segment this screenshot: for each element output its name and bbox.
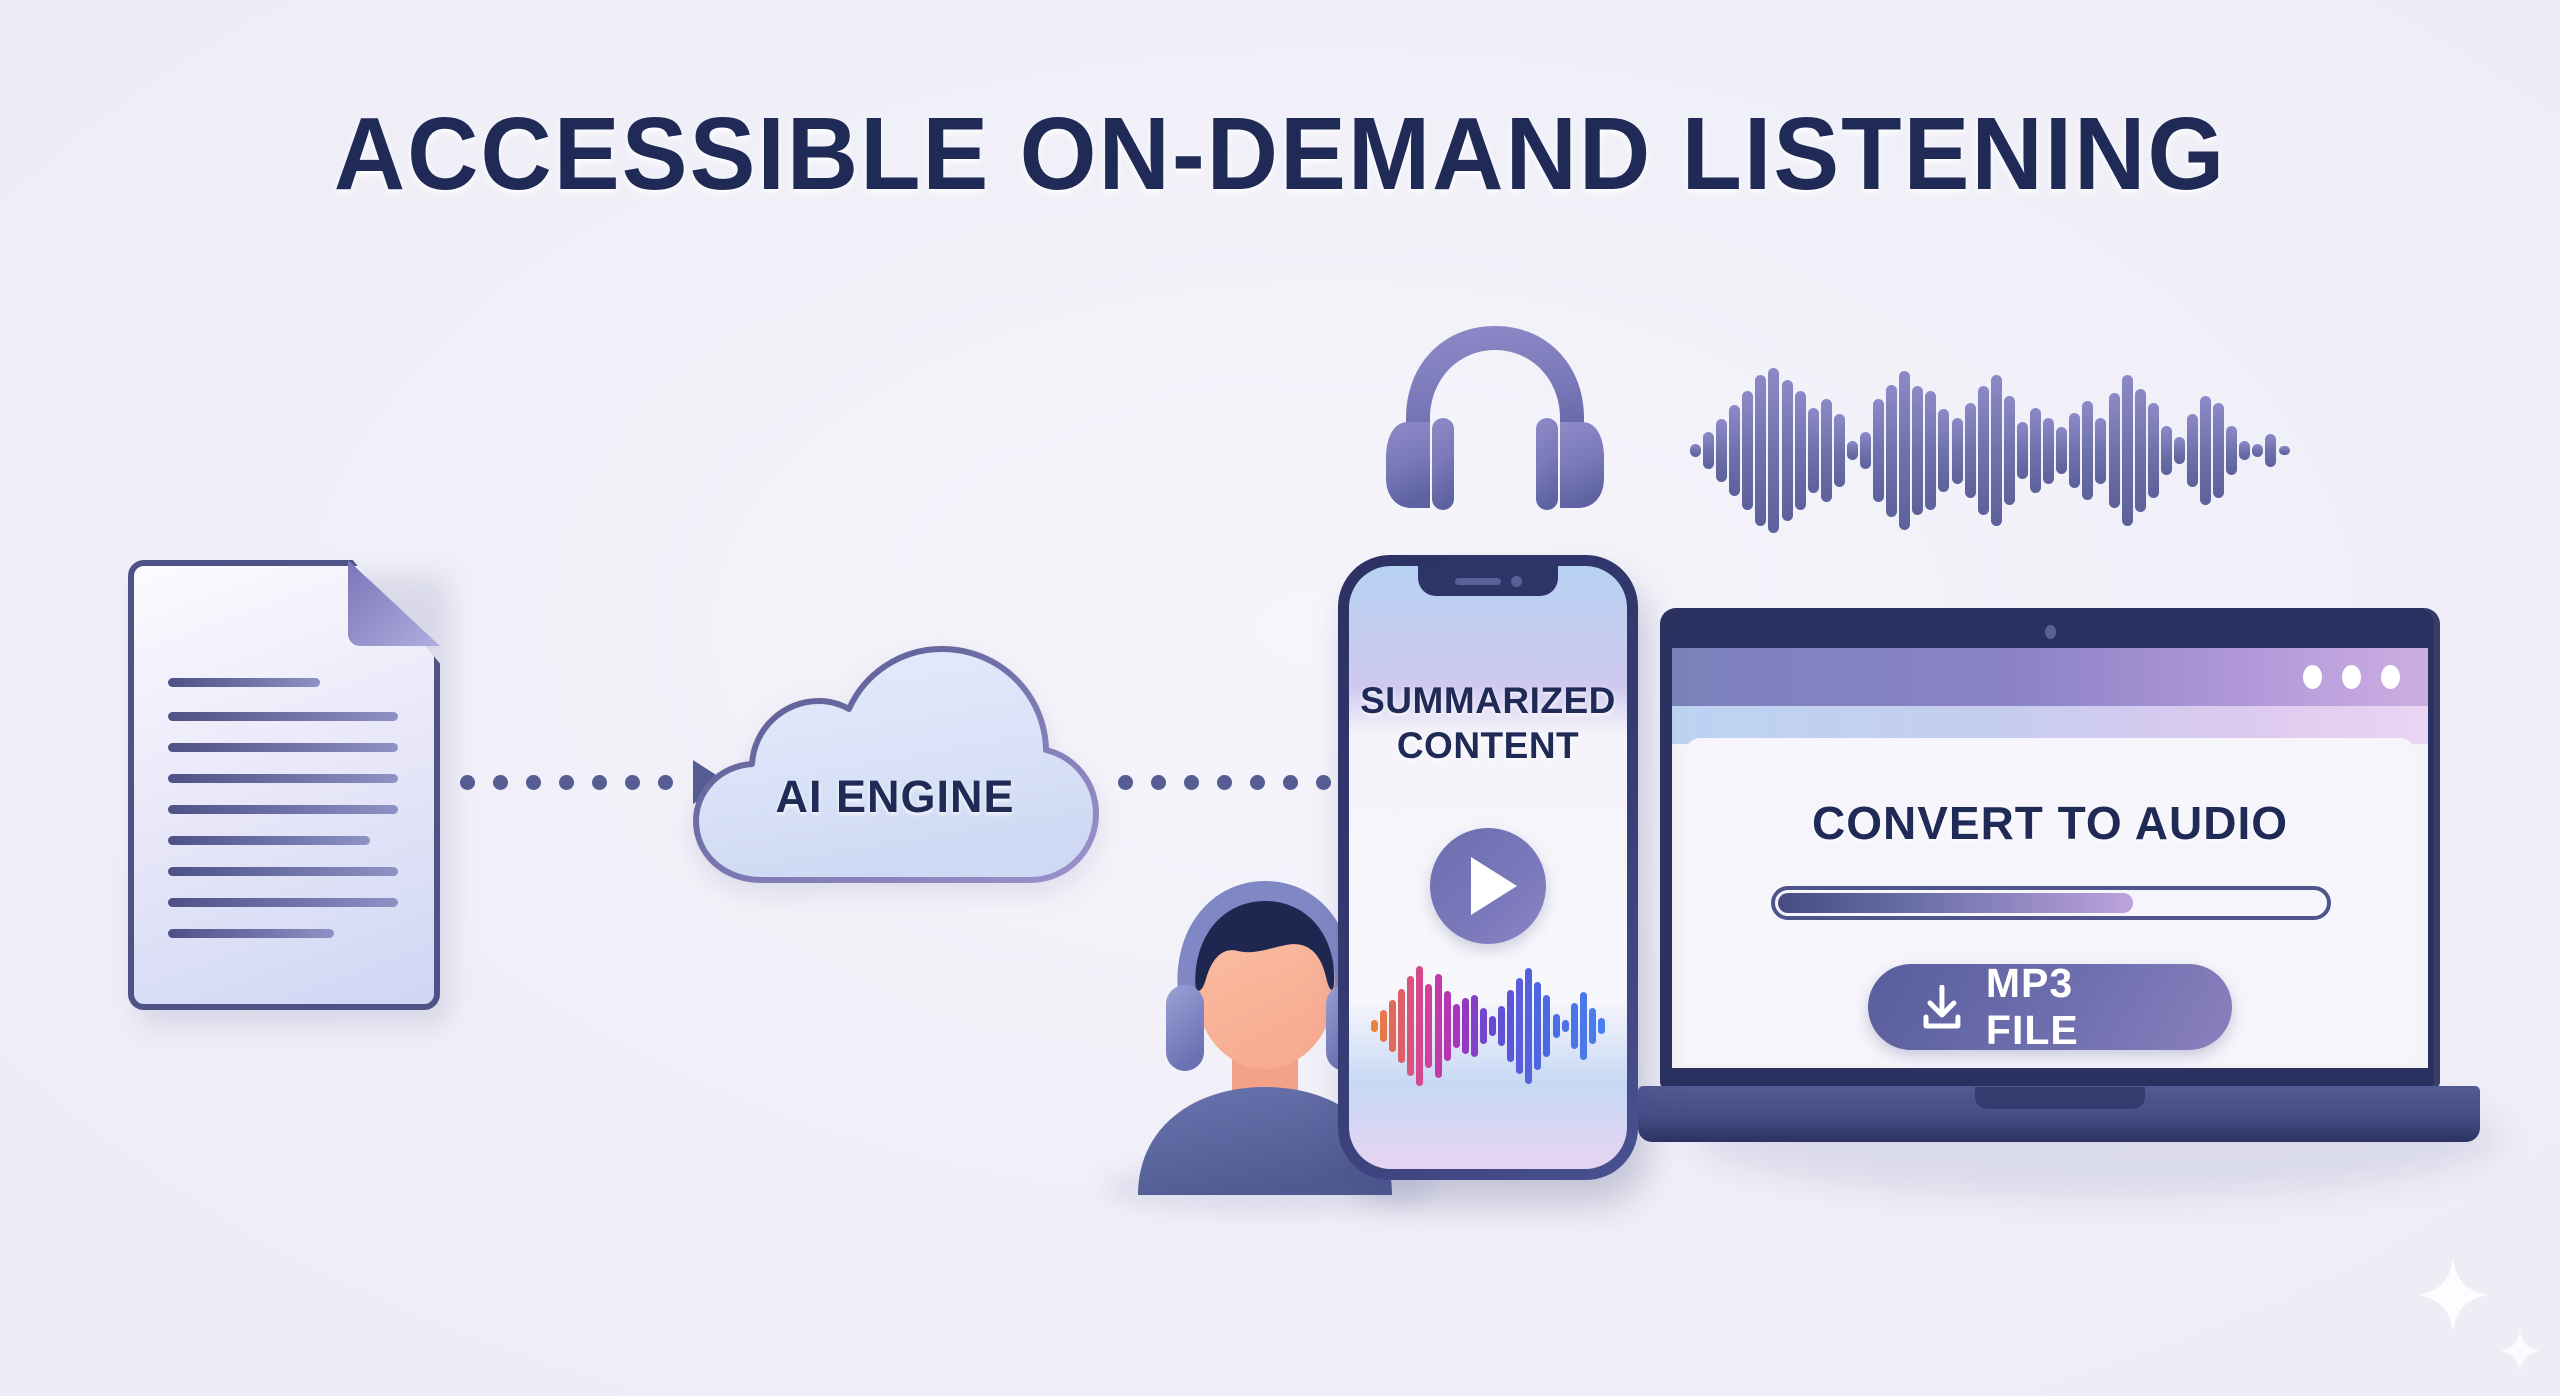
sparkle-decor xyxy=(2418,1258,2488,1332)
dotted-arrow-icon xyxy=(559,775,574,790)
phone-frame: SUMMARIZED CONTENT xyxy=(1338,555,1638,1180)
phone-headline: SUMMARIZED CONTENT xyxy=(1349,678,1627,768)
headphones-decor xyxy=(1386,318,1604,513)
window-dot-icon[interactable] xyxy=(2342,665,2361,689)
dotted-arrow-icon xyxy=(1118,775,1133,790)
laptop-lid: CONVERT TO AUDIO MP3 FILE xyxy=(1660,608,2440,1088)
top-audio-waveform xyxy=(1690,368,2290,533)
laptop-converter: CONVERT TO AUDIO MP3 FILE xyxy=(1660,608,2460,1168)
speaker-icon xyxy=(1455,578,1501,585)
download-icon xyxy=(1922,985,1962,1029)
dotted-arrow-icon xyxy=(493,775,508,790)
window-dot-icon[interactable] xyxy=(2381,665,2400,689)
window-title-bar[interactable] xyxy=(1672,648,2428,706)
mp3-download-button[interactable]: MP3 FILE xyxy=(1868,964,2232,1050)
cloud-icon xyxy=(690,625,1100,910)
flow-arrow-document-to-ai xyxy=(460,760,727,804)
document-line xyxy=(168,712,398,721)
document-line xyxy=(168,898,398,907)
play-button[interactable] xyxy=(1430,828,1546,944)
laptop-base-notch xyxy=(1975,1087,2145,1109)
document-line xyxy=(168,836,370,845)
laptop-screen: CONVERT TO AUDIO MP3 FILE xyxy=(1672,648,2428,1068)
play-icon xyxy=(1471,857,1517,915)
dotted-arrow-icon xyxy=(1217,775,1232,790)
front-camera-icon xyxy=(1511,576,1522,587)
webcam-icon xyxy=(2045,625,2056,639)
mp3-button-label: MP3 FILE xyxy=(1986,960,2178,1054)
phone-screen: SUMMARIZED CONTENT xyxy=(1349,566,1627,1169)
document-line xyxy=(168,678,320,687)
convert-heading: CONVERT TO AUDIO xyxy=(1686,796,2414,850)
document-line xyxy=(168,743,398,752)
dotted-arrow-icon xyxy=(592,775,607,790)
dotted-arrow-icon xyxy=(1184,775,1199,790)
sparkle-icon xyxy=(2418,1258,2488,1332)
document-line xyxy=(168,805,398,814)
headphones-icon xyxy=(1386,318,1604,513)
dotted-arrow-icon xyxy=(1250,775,1265,790)
dotted-arrow-icon xyxy=(1283,775,1298,790)
page-title: ACCESSIBLE ON-DEMAND LISTENING xyxy=(51,95,2509,213)
phone-audio-waveform xyxy=(1371,966,1605,1086)
dotted-arrow-icon xyxy=(1316,775,1331,790)
ai-engine-cloud: AI ENGINE xyxy=(690,625,1100,910)
phone-headline-line1: SUMMARIZED xyxy=(1349,678,1627,723)
document-text-lines xyxy=(168,678,398,963)
window-dot-icon[interactable] xyxy=(2303,665,2322,689)
progress-fill xyxy=(1778,893,2133,913)
dotted-arrow-icon xyxy=(658,775,673,790)
dotted-arrow-icon xyxy=(460,775,475,790)
sparkle-icon xyxy=(2500,1330,2540,1372)
ai-engine-label: AI ENGINE xyxy=(690,771,1100,823)
window-content-area: CONVERT TO AUDIO MP3 FILE xyxy=(1686,738,2414,1063)
illustration-canvas: ACCESSIBLE ON-DEMAND LISTENING xyxy=(0,0,2560,1396)
phone-notch xyxy=(1418,566,1558,596)
conversion-progress-bar xyxy=(1771,886,2331,920)
document-line xyxy=(168,774,398,783)
dotted-arrow-icon xyxy=(625,775,640,790)
source-document-icon xyxy=(128,560,440,1010)
mobile-player: SUMMARIZED CONTENT xyxy=(1338,555,1638,1180)
dotted-arrow-icon xyxy=(526,775,541,790)
document-line xyxy=(168,929,334,938)
document-line xyxy=(168,867,398,876)
phone-headline-line2: CONTENT xyxy=(1349,723,1627,768)
dotted-arrow-icon xyxy=(1151,775,1166,790)
sparkle-decor-small xyxy=(2500,1330,2540,1372)
